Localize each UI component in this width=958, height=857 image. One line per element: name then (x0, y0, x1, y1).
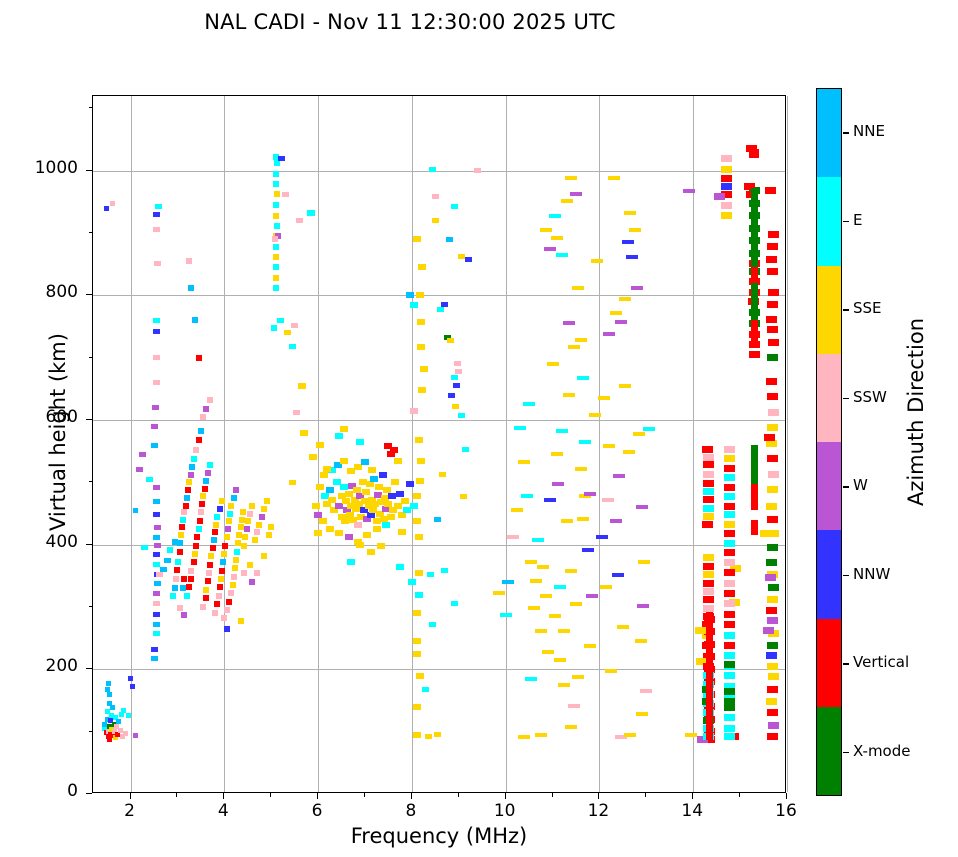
echo-point (153, 562, 160, 567)
echo-point (345, 534, 353, 540)
echo-point (640, 689, 652, 693)
echo-point (570, 602, 582, 606)
echo-point (429, 622, 436, 627)
echo-point (212, 529, 218, 535)
echo-point (418, 264, 426, 270)
echo-point (291, 323, 298, 328)
echo-point (289, 480, 296, 485)
echo-point (363, 532, 371, 538)
echo-point (565, 569, 577, 573)
echo-point (396, 491, 404, 497)
echo-point (226, 599, 232, 605)
echo-point (153, 329, 160, 334)
echo-point (377, 543, 385, 549)
y-tick (86, 170, 92, 171)
echo-point (185, 487, 191, 493)
echo-point (153, 227, 160, 232)
echo-point (356, 439, 364, 445)
echo-point (768, 339, 779, 346)
echo-point (116, 719, 121, 724)
echo-point (289, 344, 296, 349)
echo-point (219, 568, 225, 574)
echo-point (598, 396, 610, 400)
echo-point (320, 472, 328, 478)
echo-point (552, 482, 564, 486)
echo-point (458, 254, 465, 259)
echo-point (177, 549, 183, 555)
echo-point (189, 464, 195, 470)
echo-point (636, 505, 648, 509)
echo-point (273, 171, 279, 177)
echo-point (619, 384, 631, 388)
echo-point (766, 440, 777, 447)
echo-point (326, 487, 334, 493)
echo-point (721, 175, 732, 182)
echo-point (153, 552, 160, 557)
echo-point (128, 676, 133, 681)
echo-block-xmode (751, 445, 758, 484)
echo-point (413, 704, 421, 710)
echo-point (767, 516, 778, 523)
echo-point (767, 709, 778, 716)
echo-point (724, 704, 735, 711)
echo-point (167, 547, 173, 553)
echo-point (767, 268, 778, 275)
echo-point (535, 629, 547, 633)
echo-point (425, 734, 432, 739)
echo-point (362, 489, 370, 495)
echo-point (323, 466, 331, 472)
echo-point (153, 622, 160, 627)
echo-point (558, 683, 570, 687)
echo-point (233, 487, 239, 493)
echo-point (244, 526, 250, 532)
echo-point (724, 530, 735, 537)
echo-point (274, 191, 280, 197)
echo-point (254, 570, 260, 576)
colorbar-title: Azimuth Direction (904, 262, 928, 562)
echo-point (703, 563, 714, 570)
echo-point (544, 498, 556, 502)
echo-point (703, 480, 714, 487)
echo-point (186, 479, 192, 485)
y-axis-label: Virtual height (km) (46, 232, 70, 632)
echo-point (572, 286, 584, 290)
echo-point (415, 437, 423, 443)
echo-point (610, 519, 622, 523)
echo-point (118, 728, 123, 733)
echo-point (613, 474, 625, 478)
echo-point (420, 366, 428, 372)
echo-point (724, 688, 735, 695)
echo-point (216, 593, 222, 599)
x-tick (505, 793, 506, 799)
echo-point (123, 731, 128, 736)
echo-point (224, 607, 230, 613)
echo-point (220, 559, 226, 565)
colorbar-tick (843, 132, 849, 133)
echo-point (382, 522, 390, 528)
echo-point (130, 684, 135, 689)
echo-point (221, 551, 227, 557)
echo-point (542, 650, 554, 654)
echo-point (724, 733, 735, 740)
echo-point (240, 509, 246, 515)
echo-point (164, 558, 171, 563)
echo-point (151, 656, 158, 661)
echo-point (401, 498, 409, 504)
echo-point (177, 605, 183, 611)
echo-point (391, 479, 399, 485)
echo-point (591, 259, 603, 263)
echo-point (724, 503, 735, 510)
echo-point (247, 511, 253, 517)
echo-point (214, 601, 220, 607)
echo-point (558, 629, 570, 633)
echo-point (413, 236, 421, 242)
echo-point (703, 596, 714, 603)
echo-point (356, 542, 364, 548)
echo-point (266, 532, 272, 538)
echo-point (191, 559, 197, 565)
echo-point (624, 733, 636, 737)
echo-point (551, 452, 563, 456)
echo-point (493, 591, 505, 595)
echo-point (388, 493, 396, 499)
echo-point (685, 733, 697, 737)
echo-point (278, 156, 285, 161)
echo-point (335, 530, 343, 536)
echo-point (154, 261, 161, 266)
echo-point (764, 434, 775, 441)
echo-point (172, 585, 178, 591)
echo-point (452, 404, 459, 409)
x-tick-label: 2 (100, 801, 160, 821)
echo-point (249, 503, 255, 509)
echo-point (312, 503, 320, 509)
echo-point (271, 325, 277, 331)
echo-point (211, 537, 217, 543)
colorbar-tick (843, 309, 849, 310)
x-minor-tick (645, 793, 646, 797)
echo-point (617, 625, 629, 629)
echo-point (415, 534, 423, 540)
y-minor-tick (89, 606, 93, 607)
colorbar-tick (843, 575, 849, 576)
echo-point (340, 458, 348, 464)
echo-block-vertical (751, 520, 758, 536)
echo-point (408, 579, 416, 585)
echo-point (410, 503, 418, 509)
echo-point (341, 518, 349, 524)
echo-point (261, 553, 267, 559)
echo-point (528, 606, 540, 610)
echo-point (579, 440, 591, 444)
echo-point (273, 254, 279, 260)
y-tick-label: 200 (8, 656, 78, 676)
echo-point (629, 228, 641, 232)
echo-point (231, 574, 237, 580)
echo-point (703, 505, 714, 512)
x-tick-label: 6 (287, 801, 347, 821)
echo-point (217, 584, 223, 590)
echo-point (572, 675, 584, 679)
echo-point (537, 565, 549, 569)
echo-point (724, 621, 735, 628)
echo-point (721, 202, 732, 209)
echo-point (154, 543, 161, 548)
echo-point (638, 560, 650, 564)
echo-point (721, 212, 732, 219)
echo-point (637, 604, 649, 608)
echo-point (703, 605, 714, 612)
echo-point (173, 576, 179, 582)
echo-point (139, 452, 146, 457)
echo-point (544, 247, 556, 251)
echo-point (273, 275, 279, 281)
echo-point (188, 576, 194, 582)
echo-point (602, 498, 614, 502)
y-tick-label: 0 (8, 781, 78, 801)
echo-point (192, 317, 198, 323)
echo-point (340, 426, 348, 432)
echo-point (540, 594, 552, 598)
echo-point (563, 321, 575, 325)
echo-point (766, 503, 777, 510)
echo-point (398, 529, 406, 535)
echo-point (540, 228, 552, 232)
echo-point (535, 733, 547, 737)
echo-point (300, 430, 308, 436)
echo-point (241, 543, 247, 549)
echo-point (446, 237, 453, 242)
y-tick (86, 544, 92, 545)
echo-point (200, 493, 206, 499)
echo-point (273, 244, 279, 250)
echo-point (110, 705, 115, 710)
echo-point (563, 393, 575, 397)
echo-point (413, 638, 421, 644)
echo-point (767, 354, 778, 361)
echo-point (460, 494, 467, 499)
echo-point (724, 661, 735, 668)
echo-point (724, 642, 735, 649)
echo-point (221, 615, 227, 621)
echo-point (293, 410, 300, 415)
echo-point (767, 733, 778, 740)
echo-point (462, 447, 469, 452)
echo-point (767, 301, 778, 308)
echo-point (767, 642, 778, 649)
y-minor-tick (89, 731, 93, 732)
echo-point (231, 495, 237, 501)
echo-point (724, 698, 735, 705)
echo-point (724, 632, 735, 639)
echo-point (272, 236, 278, 242)
echo-point (254, 529, 260, 535)
echo-point (636, 712, 648, 716)
echo-point (277, 318, 284, 323)
x-minor-tick (270, 793, 271, 797)
echo-point (151, 443, 158, 448)
echo-point (184, 495, 190, 501)
echo-point (178, 532, 184, 538)
echo-point (191, 456, 197, 462)
echo-point (396, 564, 404, 570)
echo-point (319, 518, 327, 524)
echo-point (749, 351, 760, 358)
plot-area (92, 95, 786, 793)
y-minor-tick (89, 357, 93, 358)
echo-point (387, 514, 395, 520)
echo-point (202, 486, 208, 492)
echo-point (410, 302, 418, 308)
colorbar-label: Vertical (853, 653, 909, 671)
y-minor-tick (89, 481, 93, 482)
echo-point (225, 526, 231, 532)
echo-point (763, 627, 774, 634)
echo-point (724, 521, 735, 528)
echo-point (228, 503, 234, 509)
echo-point (766, 316, 777, 323)
echo-point (242, 534, 248, 540)
y-tick (86, 294, 92, 295)
echo-point (767, 486, 778, 493)
echo-point (340, 484, 348, 490)
echo-point (521, 494, 533, 498)
echo-point (603, 444, 615, 448)
echo-point (208, 553, 214, 559)
echo-point (367, 549, 375, 555)
echo-point (532, 538, 544, 542)
echo-point (703, 496, 714, 503)
x-tick-label: 8 (381, 801, 441, 821)
echo-point (768, 722, 779, 729)
y-tick (86, 419, 92, 420)
echo-point (152, 405, 159, 410)
echo-point (410, 408, 418, 414)
echo-point (703, 588, 714, 595)
echo-point (703, 580, 714, 587)
echo-point (415, 592, 423, 598)
echo-point (582, 548, 594, 552)
echo-point (427, 572, 434, 577)
y-minor-tick (89, 107, 93, 108)
echo-point (181, 612, 187, 618)
echo-point (261, 506, 267, 512)
x-tick (786, 793, 787, 799)
echo-point (238, 524, 244, 530)
echo-point (273, 181, 279, 187)
echo-point (714, 193, 725, 200)
echo-point (724, 725, 735, 732)
echo-point (455, 369, 462, 374)
echo-point (133, 508, 138, 513)
echo-point (633, 432, 645, 436)
echo-point (186, 584, 192, 590)
echo-point (437, 307, 444, 312)
echo-point (608, 176, 620, 180)
colorbar-segment (817, 530, 841, 618)
echo-point (153, 612, 160, 617)
echo-point (568, 704, 580, 708)
echo-point (335, 433, 343, 439)
colorbar-tick (843, 663, 849, 664)
echo-point (219, 498, 225, 504)
echo-point (273, 213, 279, 219)
echo-point (203, 595, 209, 601)
echo-point (196, 526, 202, 532)
echo-point (347, 559, 355, 565)
echo-point (282, 192, 289, 197)
echo-point (584, 492, 596, 496)
echo-point (230, 582, 236, 588)
colorbar-label: SSE (853, 299, 882, 317)
echo-point (577, 517, 589, 521)
echo-point (565, 176, 577, 180)
echo-point (624, 211, 636, 215)
echo-point (155, 204, 162, 209)
echo-point (314, 530, 322, 536)
echo-point (500, 613, 512, 617)
echo-point (768, 673, 779, 680)
echo-point (307, 210, 315, 216)
echo-point (245, 518, 251, 524)
echo-point (586, 594, 598, 598)
echo-point (603, 332, 615, 336)
echo-point (575, 338, 587, 342)
echo-point (106, 681, 111, 686)
echo-point (724, 580, 735, 587)
echo-point (232, 565, 238, 571)
echo-point (379, 472, 387, 478)
echo-point (110, 201, 115, 206)
x-axis-label: Frequency (MHz) (92, 824, 786, 848)
echo-point (724, 465, 735, 472)
echo-point (413, 732, 421, 738)
echo-point (635, 639, 647, 643)
x-minor-tick (458, 793, 459, 797)
echo-point (417, 344, 425, 350)
colorbar-tick (843, 221, 849, 222)
echo-point (767, 596, 778, 603)
x-tick-label: 10 (475, 801, 535, 821)
echo-point (589, 413, 601, 417)
echo-point (702, 521, 713, 528)
echo-point (206, 570, 212, 576)
echo-point (724, 600, 735, 607)
echo-point (429, 167, 436, 172)
echo-point (768, 289, 779, 296)
echo-point (107, 692, 112, 697)
colorbar-label: NNW (853, 565, 890, 583)
echo-point (153, 318, 160, 323)
echo-point (233, 557, 239, 563)
echo-point (226, 518, 232, 524)
echo-point (561, 519, 573, 523)
echo-point (451, 204, 458, 209)
echo-point (373, 526, 381, 532)
echo-point (188, 285, 194, 291)
echo-point (198, 428, 204, 434)
echo-point (619, 297, 631, 301)
echo-point (207, 562, 213, 568)
x-tick-label: 14 (662, 801, 722, 821)
echo-point (153, 212, 160, 217)
echo-point (695, 627, 706, 634)
echo-point (194, 534, 200, 540)
echo-point (683, 189, 695, 193)
